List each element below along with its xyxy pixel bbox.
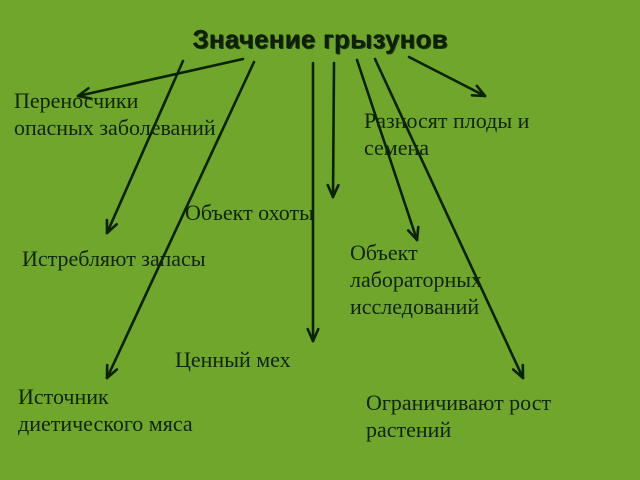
node-hunting: Объект охоты <box>185 200 415 227</box>
node-lab: Объект лабораторных исследований <box>350 240 580 320</box>
node-spread: Разносят плоды и семена <box>364 108 626 162</box>
arrow-to-hunting <box>328 63 339 197</box>
node-limit: Ограничивают рост растений <box>366 390 616 444</box>
node-carriers: Переносчики опасных заболеваний <box>14 88 304 142</box>
arrow-to-spread <box>409 57 485 96</box>
node-meat: Источник диетического мяса <box>18 384 308 438</box>
arrow-to-destroy <box>107 61 183 233</box>
node-destroy: Истребляют запасы <box>22 246 302 273</box>
page-title: Значение грызунов <box>0 24 640 55</box>
slide-canvas: Значение грызунов Переносчики опасных за… <box>0 0 640 480</box>
node-fur: Ценный мех <box>175 347 395 374</box>
